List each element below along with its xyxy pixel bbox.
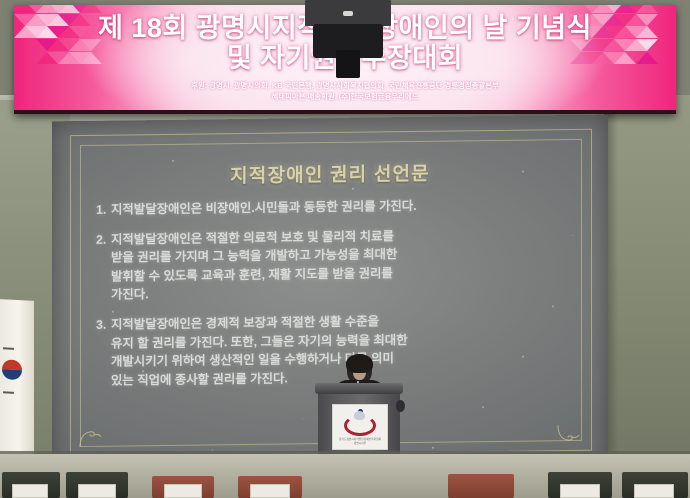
name-card [164,484,202,498]
screen-dust-speck [112,311,114,313]
mount-stem [336,50,360,78]
declaration-number: 2. [96,230,111,305]
screen-dust-speck [522,356,524,358]
name-card [12,484,48,498]
name-card [250,484,290,498]
name-card [560,484,600,498]
declaration-number: 1. [96,201,111,220]
organization-emblem-icon [344,415,376,436]
trigram-mark [3,347,14,350]
banner-triangle [80,5,102,13]
mount-indicator-light [343,11,353,16]
banner-sponsor-line: 후원: 광명시, 광명시의회, KB 국민은행, 광명시사회복지협의회, 국민체… [14,81,676,102]
taeguk-blue-half [2,369,22,380]
name-card [634,484,674,498]
declaration-number: 3. [96,316,111,391]
speaker-hair [346,354,373,373]
projector-mount-icon [305,0,391,78]
frame-corner-flourish-icon [79,430,105,448]
chair-back [448,474,514,498]
name-card [78,484,116,498]
floor [0,454,690,498]
placard-text: 경기도광명시지적발달장애인복지협회 광명시지부 [339,438,381,446]
podium-top-surface [315,383,403,394]
event-photo-scene: 제 18회 광명시지적발달장애인의 날 기념식 및 자기권리주장대회 후원: 광… [0,0,690,498]
screen-dust-speck [172,160,174,162]
podium-placard: 경기도광명시지적발달장애인복지협회 광명시지부 [332,404,388,450]
screen-dust-speck [432,447,434,449]
podium-side-knob [396,400,405,412]
screen-dust-speck [142,370,144,372]
trigram-mark [3,391,14,394]
screen-dust-speck [482,406,484,408]
list-item: 2. 지적발달장애인은 적절한 의료적 보호 및 물리적 치료를 받을 권리를 … [96,225,572,305]
right-wall [604,95,690,498]
declaration-text: 지적발달장애인은 적절한 의료적 보호 및 물리적 치료를 받을 권리를 가지며… [111,225,572,305]
screen-dust-speck [522,171,524,173]
banner-triangle [636,5,658,13]
taeguk-icon [2,359,22,380]
screen-dust-speck [352,188,354,190]
frame-corner-flourish-icon [557,424,583,442]
mount-plate [305,0,391,26]
